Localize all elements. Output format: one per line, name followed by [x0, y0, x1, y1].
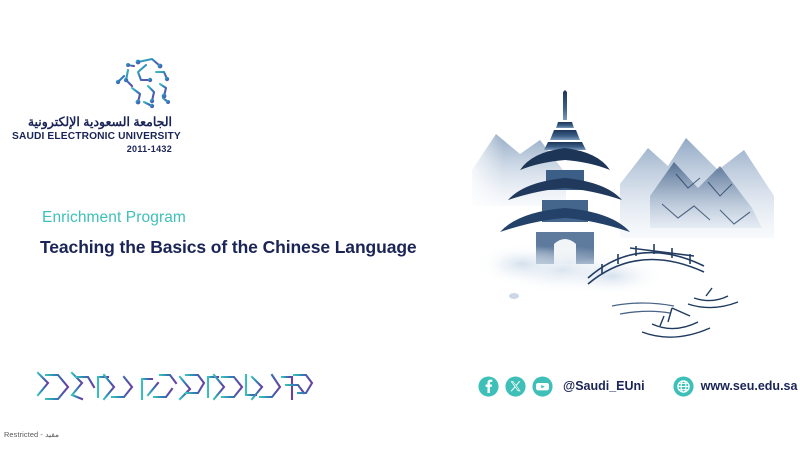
x-twitter-icon[interactable] — [505, 376, 526, 397]
sensitivity-label: Restricted - مقيد — [4, 430, 59, 439]
website-url[interactable]: www.seu.edu.sa — [701, 379, 798, 393]
seu-hexagon-circuit-emblem-icon — [108, 52, 182, 114]
university-established-years: 2011-1432 — [12, 144, 172, 155]
social-handle[interactable]: @Saudi_EUni — [563, 379, 645, 393]
seu-circuit-maze-pattern — [36, 365, 324, 407]
globe-icon[interactable] — [673, 376, 694, 397]
facebook-icon[interactable] — [478, 376, 499, 397]
program-eyebrow: Enrichment Program — [42, 208, 470, 228]
footer-social-strip: @Saudi_EUni www.seu.edu.sa — [478, 371, 797, 401]
youtube-icon[interactable] — [532, 376, 553, 397]
chinese-ink-wash-pagoda-landscape — [462, 78, 782, 346]
university-logo: الجامعة السعودية الإلكترونية SAUDI ELECT… — [12, 52, 192, 162]
page-title: Teaching the Basics of the Chinese Langu… — [40, 236, 470, 258]
university-name-arabic: الجامعة السعودية الإلكترونية — [12, 115, 172, 130]
title-block: Enrichment Program Teaching the Basics o… — [40, 208, 470, 258]
presentation-slide: الجامعة السعودية الإلكترونية SAUDI ELECT… — [0, 0, 800, 450]
university-name-english: SAUDI ELECTRONIC UNIVERSITY — [12, 131, 172, 143]
